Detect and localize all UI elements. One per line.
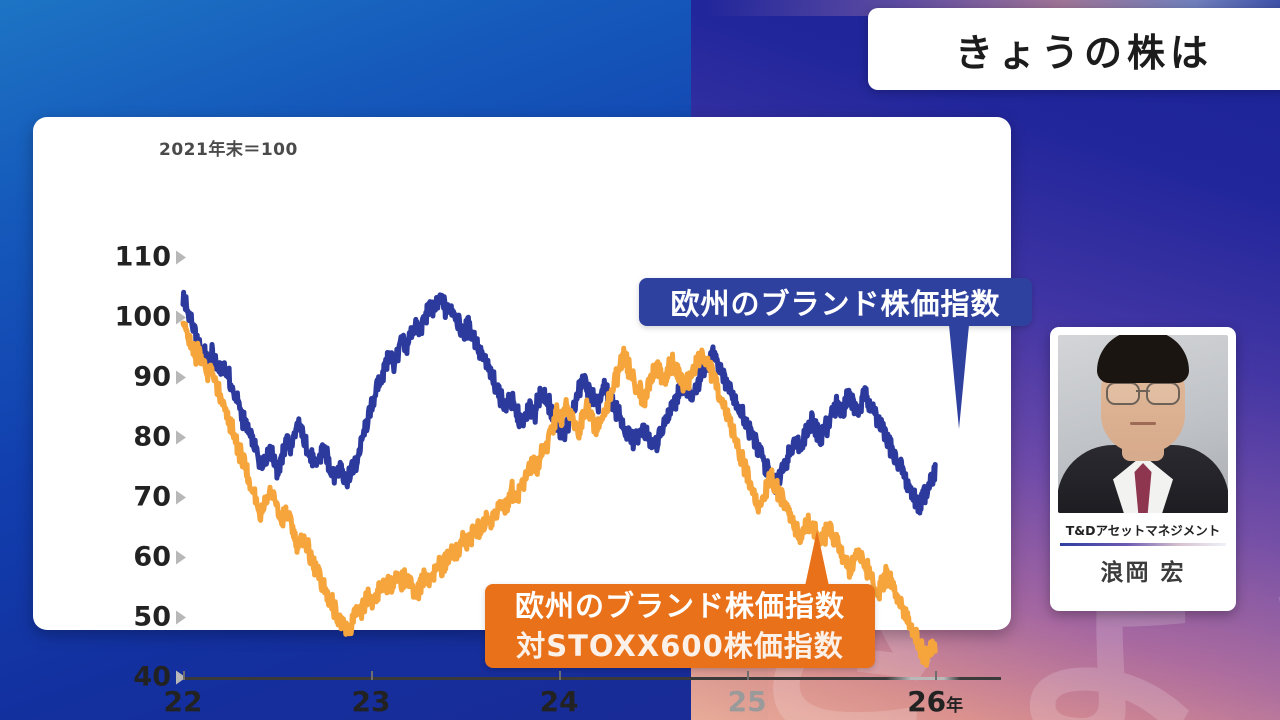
glasses-icon	[1106, 382, 1180, 401]
x-axis-tick	[935, 671, 937, 680]
y-axis-tick-label: 70	[133, 482, 186, 513]
x-axis-tick-label: 26年	[907, 685, 963, 718]
commentator-card: T&Dアセットマネジメント 浪岡 宏	[1050, 327, 1236, 611]
y-axis-tick-label: 80	[133, 422, 186, 453]
x-axis-tick	[747, 671, 749, 680]
callout-orange-pointer	[805, 530, 829, 586]
callout-orange-label-line2: 対STOXX600株価指数	[516, 626, 844, 666]
avatar-hair	[1097, 335, 1189, 383]
commentator-company: T&Dアセットマネジメント	[1066, 520, 1221, 539]
avatar	[1058, 335, 1228, 513]
broadcast-graphic: きょうの株 きょうの株は 2021年末＝100 1101009080706050…	[0, 0, 1280, 720]
y-axis-tick-label: 90	[133, 362, 186, 393]
x-axis-tick	[183, 671, 185, 680]
callout-orange-label-line1: 欧州のブランド株価指数	[515, 586, 845, 626]
x-axis-tick	[371, 671, 373, 680]
x-axis-tick-label: 23	[352, 685, 391, 718]
y-axis-tick-label: 60	[133, 542, 186, 573]
x-axis-tick-label: 22	[164, 685, 203, 718]
page-title: きょうの株は	[955, 22, 1213, 77]
callout-orange: 欧州のブランド株価指数 対STOXX600株価指数	[485, 584, 875, 668]
y-axis-tick-label: 100	[115, 302, 186, 333]
program-title-box: きょうの株は	[868, 8, 1280, 90]
x-axis-tick	[559, 671, 561, 680]
y-axis-tick-label: 110	[115, 242, 186, 273]
x-axis-tick-label: 24	[540, 685, 579, 718]
callout-blue-label: 欧州のブランド株価指数	[670, 281, 1000, 323]
y-axis-tick-label: 50	[133, 602, 186, 633]
avatar-mouth	[1130, 422, 1156, 425]
x-axis-tick-label: 25	[728, 685, 767, 718]
callout-blue-pointer	[949, 325, 969, 429]
callout-blue: 欧州のブランド株価指数	[639, 278, 1032, 326]
y-axis: 110100908070605040	[81, 117, 186, 630]
x-axis-line	[183, 677, 1001, 680]
commentator-name: 浪岡 宏	[1100, 553, 1185, 587]
card-divider	[1060, 543, 1226, 546]
chart-card: 2021年末＝100 110100908070605040 欧州のブランド株価指…	[33, 117, 1011, 630]
